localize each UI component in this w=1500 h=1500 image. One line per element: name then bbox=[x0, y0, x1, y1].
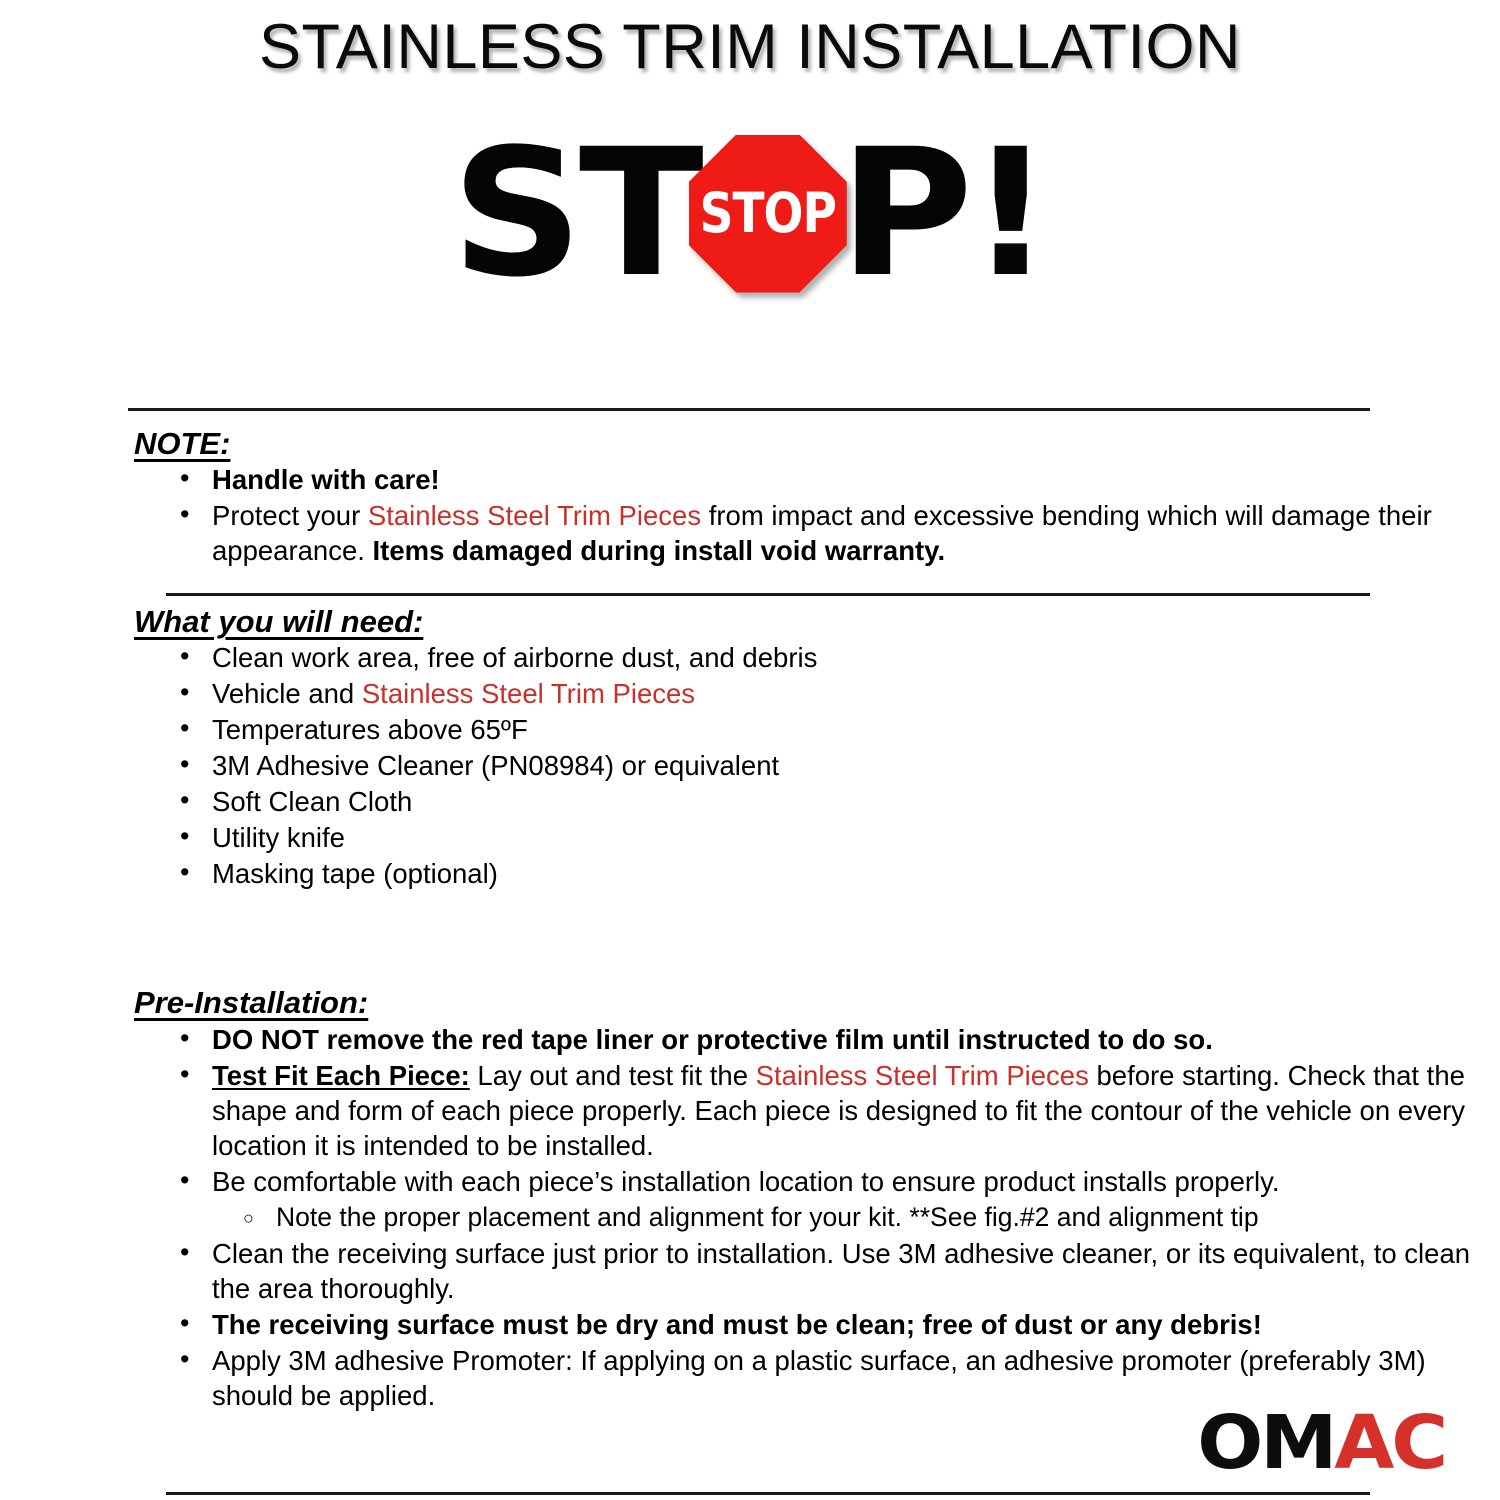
list-item: Handle with care! bbox=[0, 462, 1500, 497]
list-item: Note the proper placement and alignment … bbox=[0, 1200, 1500, 1235]
list-item: The receiving surface must be dry and mu… bbox=[0, 1307, 1500, 1342]
section-heading-note: NOTE: bbox=[134, 425, 1500, 462]
divider-top bbox=[128, 408, 1370, 411]
list-item: Test Fit Each Piece: Lay out and test fi… bbox=[0, 1058, 1500, 1163]
list-item: Vehicle and Stainless Steel Trim Pieces bbox=[0, 676, 1500, 711]
text-run: Temperatures above 65ºF bbox=[212, 714, 528, 745]
list-item: Protect your Stainless Steel Trim Pieces… bbox=[0, 498, 1500, 568]
list-item: Clean the receiving surface just prior t… bbox=[0, 1236, 1500, 1306]
text-bold: The receiving surface must be dry and mu… bbox=[212, 1309, 1262, 1340]
document-body: NOTE: Handle with care!Protect your Stai… bbox=[0, 425, 1500, 1414]
text-bold: Items damaged during install void warran… bbox=[373, 535, 946, 566]
text-run: Clean work area, free of airborne dust, … bbox=[212, 642, 817, 673]
text-run: Utility knife bbox=[212, 822, 345, 853]
omac-logo: OMAC bbox=[1197, 1406, 1445, 1480]
text-run: 3M Adhesive Cleaner (PN08984) or equival… bbox=[212, 750, 779, 781]
stop-sign-label: STOP bbox=[700, 181, 836, 246]
needs-bullet-list: Clean work area, free of airborne dust, … bbox=[0, 640, 1500, 891]
list-item: Temperatures above 65ºF bbox=[0, 712, 1500, 747]
text-run: Note the proper placement and alignment … bbox=[276, 1202, 1259, 1232]
omac-logo-dark-text: OM bbox=[1197, 1400, 1334, 1486]
text-run: Masking tape (optional) bbox=[212, 858, 498, 889]
note-bullet-list: Handle with care!Protect your Stainless … bbox=[0, 462, 1500, 568]
text-run: Protect your bbox=[212, 500, 368, 531]
section-heading-what-you-will-need: What you will need: bbox=[134, 603, 1500, 640]
list-item: Be comfortable with each piece’s install… bbox=[0, 1164, 1500, 1199]
section-heading-pre-installation: Pre-Installation: bbox=[134, 984, 1500, 1021]
list-item: Utility knife bbox=[0, 820, 1500, 855]
list-item: Soft Clean Cloth bbox=[0, 784, 1500, 819]
text-run: Soft Clean Cloth bbox=[212, 786, 412, 817]
stop-right-letters: P! bbox=[839, 138, 1048, 289]
preinstall-bullet-list: DO NOT remove the red tape liner or prot… bbox=[0, 1022, 1500, 1413]
divider-bottom bbox=[166, 1492, 1370, 1495]
text-run: Clean the receiving surface just prior t… bbox=[212, 1238, 1470, 1304]
text-highlight-red: Stainless Steel Trim Pieces bbox=[756, 1060, 1089, 1091]
list-item: Clean work area, free of airborne dust, … bbox=[0, 640, 1500, 675]
list-item: Masking tape (optional) bbox=[0, 856, 1500, 891]
stop-left-letters: ST bbox=[451, 138, 699, 289]
text-run: Vehicle and bbox=[212, 678, 362, 709]
omac-logo-red-text: AC bbox=[1334, 1400, 1445, 1486]
stop-warning-graphic: ST STOP P! bbox=[0, 121, 1500, 306]
stop-sign-icon: STOP bbox=[689, 135, 847, 293]
text-run: Lay out and test fit the bbox=[470, 1060, 756, 1091]
list-item: DO NOT remove the red tape liner or prot… bbox=[0, 1022, 1500, 1057]
list-item: 3M Adhesive Cleaner (PN08984) or equival… bbox=[0, 748, 1500, 783]
text-highlight-red: Stainless Steel Trim Pieces bbox=[368, 500, 701, 531]
text-highlight-red: Stainless Steel Trim Pieces bbox=[362, 678, 695, 709]
text-run: Be comfortable with each piece’s install… bbox=[212, 1166, 1279, 1197]
text-bold: Handle with care! bbox=[212, 464, 440, 495]
page-title: STAINLESS TRIM INSTALLATION bbox=[0, 0, 1500, 79]
text-bold: DO NOT remove the red tape liner or prot… bbox=[212, 1024, 1213, 1055]
text-bold-underline: Test Fit Each Piece: bbox=[212, 1060, 470, 1091]
